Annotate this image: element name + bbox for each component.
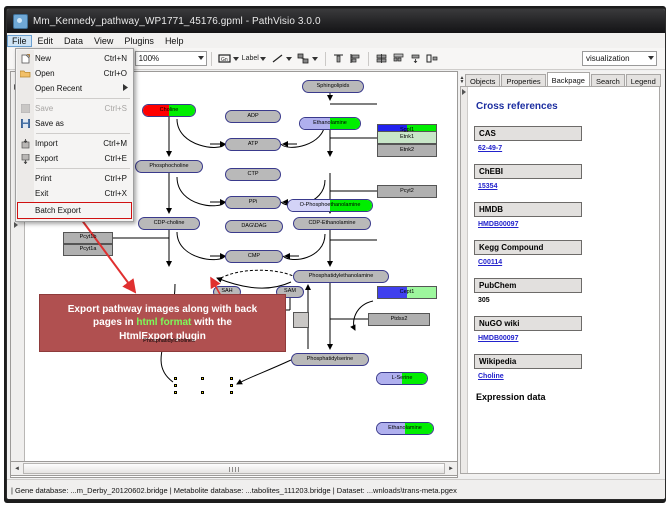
annotation-highlight: html format <box>136 317 191 328</box>
backpage-content: Cross references CAS 62-49-7 ChEBI 15354… <box>468 87 659 473</box>
menu-help[interactable]: Help <box>160 35 189 47</box>
node-l-serine[interactable]: L-Serine <box>376 372 428 385</box>
node-label: Phosphocholine <box>149 164 188 170</box>
menu-label-import: Import <box>35 139 103 148</box>
node-ethanolamine-bottom[interactable]: Ethanolamine <box>376 422 434 435</box>
canvas-horizontal-scrollbar[interactable]: ◄ ► <box>10 461 458 476</box>
visualization-combo[interactable]: visualization <box>582 51 657 66</box>
menu-bar: File Edit Data View Plugins Help <box>7 33 665 49</box>
scrollbar-grip <box>229 467 239 472</box>
node-atp[interactable]: ATP <box>225 138 281 151</box>
selection-handle-se[interactable] <box>230 391 233 394</box>
menu-separator-3 <box>36 168 130 169</box>
menu-label-open-recent: Open Recent <box>35 84 123 93</box>
selection-handle-sw[interactable] <box>174 391 177 394</box>
node-pcyt1a[interactable]: Pcyt1a <box>63 244 113 256</box>
node-label: Sgpl1 <box>400 128 414 134</box>
node-label: CTP <box>248 172 259 178</box>
annotation-line-2: pages in html format with the <box>93 316 232 330</box>
new-file-icon <box>16 54 35 64</box>
menu-file[interactable]: File <box>7 35 32 47</box>
submenu-arrow-icon <box>123 84 133 93</box>
node-dag[interactable]: DAG\DAG <box>225 220 283 233</box>
visualization-value: visualization <box>586 54 630 63</box>
zoom-combo[interactable]: 100% <box>135 51 207 66</box>
menu-edit[interactable]: Edit <box>33 35 59 47</box>
panel-expand-icon[interactable] <box>462 89 466 95</box>
tab-backpage[interactable]: Backpage <box>547 72 590 87</box>
node-o-phosphoethanolamine[interactable]: O-Phosphoethanolamine <box>287 199 373 212</box>
menu-label-batch-export: Batch Export <box>35 206 131 215</box>
xref-link-nugo[interactable]: HMDB00097 <box>478 335 518 342</box>
cross-references-heading: Cross references <box>476 101 651 112</box>
menu-item-export[interactable]: Export Ctrl+E <box>16 151 133 166</box>
xref-header-chebi: ChEBI <box>474 164 582 179</box>
selection-handle-s[interactable] <box>201 391 204 394</box>
screenshot-root: Mm_Kennedy_pathway_WP1771_45176.gpml - P… <box>0 0 670 509</box>
toolbar-separator-2 <box>325 52 326 66</box>
import-icon <box>16 139 35 149</box>
node-label: Ethanolamine <box>388 426 422 432</box>
selection-handle-w[interactable] <box>174 384 177 387</box>
node-label: Cept1 <box>400 290 415 296</box>
stack-icon[interactable] <box>408 51 423 66</box>
annotation-line-2b: with the <box>191 317 232 328</box>
node-label: SAM <box>284 289 296 295</box>
node-label: Pcyt1b <box>80 235 97 241</box>
node-label: SAH <box>221 289 232 295</box>
chevron-down-icon <box>198 56 204 60</box>
gutter-marker-2 <box>14 222 18 228</box>
scroll-left-icon[interactable]: ◄ <box>11 463 23 474</box>
align-top-icon[interactable] <box>331 51 346 66</box>
xref-link-chebi[interactable]: 15354 <box>478 183 497 190</box>
selection-handle-e[interactable] <box>230 384 233 387</box>
chevron-down-icon-2 <box>648 56 654 60</box>
node-label: Phosphatidylcholines <box>143 339 195 345</box>
datanode-icon[interactable]: Gn <box>217 51 232 66</box>
node-label: Ptdss2 <box>391 317 408 323</box>
annotation-line-2a: pages in <box>93 317 136 328</box>
node-phosphatidylethanolamine[interactable]: Phosphatidylethanolamine <box>293 270 389 283</box>
same-width-icon[interactable] <box>391 51 406 66</box>
node-sphingolipids[interactable]: Sphingolipids <box>302 80 364 93</box>
node-ethanolamine-top[interactable]: Ethanolamine <box>299 117 361 130</box>
menu-shortcut-open: Ctrl+O <box>104 69 133 78</box>
zoom-value: 100% <box>139 54 159 63</box>
window-title: Mm_Kennedy_pathway_WP1771_45176.gpml - P… <box>33 16 321 27</box>
datanode-dropdown-icon[interactable] <box>233 57 239 61</box>
selection-handle-ne[interactable] <box>230 377 233 380</box>
xref-link-kegg[interactable]: C00114 <box>478 259 502 266</box>
menu-shortcut-save: Ctrl+S <box>105 104 133 113</box>
node-label: Sphingolipids <box>317 84 350 90</box>
xref-value-hmdb: HMDB00097 <box>478 221 651 228</box>
xref-value-wikipedia: Choline <box>478 373 651 380</box>
menu-item-print[interactable]: Print Ctrl+P <box>16 171 133 186</box>
menu-item-save-as[interactable]: Save as <box>16 116 133 131</box>
toolbar-separator <box>211 52 212 66</box>
node-label: Phosphatidylethanolamine <box>309 274 374 280</box>
menu-label-exit: Exit <box>35 189 105 198</box>
node-label: PPi <box>249 200 258 206</box>
scrollbar-thumb[interactable] <box>23 463 445 474</box>
xref-value-pubchem: 305 <box>478 297 651 304</box>
xref-link-cas[interactable]: 62-49-7 <box>478 145 502 152</box>
node-cmp[interactable]: CMP <box>225 250 283 263</box>
node-ctp[interactable]: CTP <box>225 168 281 181</box>
node-label: ATP <box>248 142 258 148</box>
menu-separator-1 <box>36 98 130 99</box>
node-label: Ethanolamine <box>313 121 347 127</box>
node-adp[interactable]: ADP <box>225 110 281 123</box>
node-label: Phosphatidylserine <box>307 357 353 363</box>
menu-shortcut-print: Ctrl+P <box>105 174 133 183</box>
xref-header-hmdb: HMDB <box>474 202 582 217</box>
menu-shortcut-export: Ctrl+E <box>105 154 133 163</box>
panel-tab-bar: ▲▼ Objects Properties Backpage Search Le… <box>459 71 662 87</box>
line-dropdown-icon[interactable] <box>286 57 292 61</box>
menu-label-print: Print <box>35 174 105 183</box>
xref-header-kegg: Kegg Compound <box>474 240 582 255</box>
scroll-right-icon[interactable]: ► <box>445 463 457 474</box>
menu-label-save-as: Save as <box>35 119 133 128</box>
menu-item-open[interactable]: Open Ctrl+O <box>16 66 133 81</box>
node-label: Pcyt2 <box>400 189 414 195</box>
align-center-icon[interactable] <box>374 51 389 66</box>
pathvisio-icon <box>13 14 28 29</box>
svg-text:Gn: Gn <box>221 57 228 63</box>
node-etnk2[interactable]: Etnk2 <box>377 144 437 157</box>
node-phosphocholine[interactable]: Phosphocholine <box>135 160 203 173</box>
save-as-icon <box>16 119 35 128</box>
node-pcyt2[interactable]: Pcyt2 <box>377 185 437 198</box>
menu-label-save: Save <box>35 104 105 113</box>
menu-item-new[interactable]: New Ctrl+N <box>16 51 133 66</box>
group-icon[interactable] <box>425 51 440 66</box>
node-ppi[interactable]: PPi <box>225 196 281 209</box>
node-cdp-choline[interactable]: CDP-choline <box>138 217 200 230</box>
node-label: Choline <box>160 108 179 114</box>
selection-handle-n[interactable] <box>201 377 204 380</box>
menu-item-batch-export[interactable]: Batch Export <box>17 202 132 219</box>
save-icon <box>16 104 35 113</box>
menu-item-save[interactable]: Save Ctrl+S <box>16 101 133 116</box>
xref-link-wikipedia[interactable]: Choline <box>478 373 504 380</box>
interaction-icon[interactable] <box>296 51 311 66</box>
menu-data[interactable]: Data <box>59 35 88 47</box>
xref-value-nugo: HMDB00097 <box>478 335 651 342</box>
node-label: L-Serine <box>392 376 413 382</box>
backpage-panel: Cross references CAS 62-49-7 ChEBI 15354… <box>460 86 660 474</box>
node-label: DAG\DAG <box>241 224 266 230</box>
open-folder-icon <box>16 69 35 78</box>
node-label: CDP-choline <box>154 221 185 227</box>
node-cept1[interactable]: Cept1 <box>377 286 437 299</box>
node-label: Etnk2 <box>400 148 414 154</box>
node-phosphatidylserine[interactable]: Phosphatidylserine <box>291 353 369 366</box>
node-label: CDP-Ethanolamine <box>308 221 355 227</box>
label-dropdown-icon[interactable] <box>260 57 266 61</box>
xref-header-wikipedia: Wikipedia <box>474 354 582 369</box>
menu-shortcut-new: Ctrl+N <box>104 54 133 63</box>
selection-handle-nw[interactable] <box>174 377 177 380</box>
xref-header-pubchem: PubChem <box>474 278 582 293</box>
xref-value-kegg: C00114 <box>478 259 651 266</box>
line-icon[interactable] <box>270 51 285 66</box>
menu-separator-2 <box>36 133 130 134</box>
group-box-shape[interactable] <box>293 312 309 328</box>
menu-plugins[interactable]: Plugins <box>119 35 159 47</box>
xref-value-chebi: 15354 <box>478 183 651 190</box>
menu-shortcut-import: Ctrl+M <box>103 139 133 148</box>
panel-side-strip[interactable] <box>461 87 468 473</box>
menu-item-exit[interactable]: Exit Ctrl+X <box>16 186 133 201</box>
node-label: O-Phosphoethanolamine <box>300 203 361 209</box>
toolbar-separator-3 <box>368 52 369 66</box>
node-label: ADP <box>247 114 258 120</box>
status-bar: | Gene database: ...m_Derby_20120602.bri… <box>7 479 666 500</box>
menu-label-export: Export <box>35 154 105 163</box>
label-icon[interactable]: Label <box>242 55 259 62</box>
title-bar: Mm_Kennedy_pathway_WP1771_45176.gpml - P… <box>7 9 665 33</box>
file-menu-dropdown[interactable]: New Ctrl+N Open Ctrl+O Open Recent <box>15 48 134 222</box>
scrollbar-track[interactable] <box>23 463 445 474</box>
export-icon <box>16 154 35 164</box>
align-left-icon[interactable] <box>348 51 363 66</box>
menu-shortcut-exit: Ctrl+X <box>105 189 133 198</box>
xref-header-cas: CAS <box>474 126 582 141</box>
node-label: Etnk1 <box>400 135 414 141</box>
xref-value-cas: 62-49-7 <box>478 145 651 152</box>
xref-header-nugo: NuGO wiki <box>474 316 582 331</box>
node-choline-top[interactable]: Choline <box>142 104 196 117</box>
menu-label-open: Open <box>35 69 104 78</box>
interaction-dropdown-icon[interactable] <box>312 57 318 61</box>
xref-link-hmdb[interactable]: HMDB00097 <box>478 221 518 228</box>
annotation-line-1: Export pathway images along with back <box>68 303 258 317</box>
pathvisio-window: Mm_Kennedy_pathway_WP1771_45176.gpml - P… <box>6 8 666 500</box>
side-panel: ▲▼ Objects Properties Backpage Search Le… <box>459 71 662 476</box>
menu-item-open-recent[interactable]: Open Recent <box>16 81 133 96</box>
node-label: CMP <box>248 254 260 260</box>
status-text: | Gene database: ...m_Derby_20120602.bri… <box>11 486 457 495</box>
expression-data-heading: Expression data <box>476 392 651 402</box>
node-label: Pcyt1a <box>80 247 97 253</box>
node-pcyt1b[interactable]: Pcyt1b <box>63 232 113 244</box>
node-ptdss2[interactable]: Ptdss2 <box>368 313 430 326</box>
node-cdp-ethanolamine[interactable]: CDP-Ethanolamine <box>293 217 371 230</box>
menu-label-new: New <box>35 54 104 63</box>
menu-view[interactable]: View <box>89 35 118 47</box>
menu-item-import[interactable]: Import Ctrl+M <box>16 136 133 151</box>
